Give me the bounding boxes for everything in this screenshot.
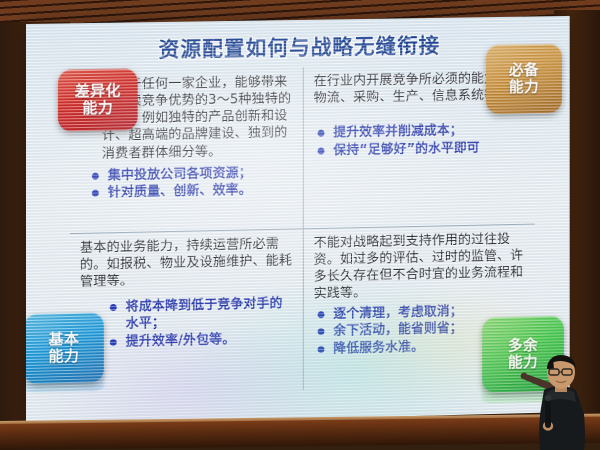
badge-basic-capability: 基本 能力	[26, 312, 104, 384]
bullet-item: 保持“足够好”的水平即可	[314, 139, 525, 160]
badge-must-have-capability: 必备 能力	[486, 44, 562, 114]
badge-differentiating-capability: 差异化 能力	[58, 68, 138, 131]
quadrant-basic: 基本的业务能力，持续运营所必需的。如报税、物业及设施维护、能耗管理等。 将成本降…	[70, 229, 304, 396]
presenter-person	[514, 352, 598, 450]
badge-line-2: 能力	[509, 79, 539, 96]
bullet-item: 将成本降到低于竞争对手的水平；	[106, 295, 293, 334]
conference-room: 资源配置如何与战略无缝衔接 有别于任何一家企业，能够带来可持续竞争优势的3～5种…	[0, 0, 600, 450]
badge-line-2: 能力	[48, 348, 79, 366]
presentation-slide: 资源配置如何与战略无缝衔接 有别于任何一家企业，能够带来可持续竞争优势的3～5种…	[26, 16, 570, 426]
bullet-item: 提升效率/外包等。	[106, 329, 293, 351]
quadrant-bullets-differentiating: 集中投放公司各项资源； 针对质量、创新、效率。	[88, 164, 293, 202]
badge-line-1: 差异化	[75, 83, 121, 101]
quadrant-body-redundant: 不能对战略起到支持作用的过往投资。如过多的评估、过时的监管、许多长久存在但不合时…	[314, 230, 525, 302]
quadrant-bullets-must-have: 提升效率并削减成本； 保持“足够好”的水平即可	[314, 121, 525, 159]
badge-line-2: 能力	[82, 100, 113, 117]
projection-screen: 资源配置如何与战略无缝衔接 有别于任何一家企业，能够带来可持续竞争优势的3～5种…	[26, 16, 570, 426]
capability-matrix: 有别于任何一家企业，能够带来可持续竞争优势的3～5种独特的能力。例如独特的产品创…	[70, 64, 535, 396]
quadrant-body-basic: 基本的业务能力，持续运营所必需的。如报税、物业及设施维护、能耗管理等。	[80, 235, 293, 291]
badge-line-1: 必备	[509, 62, 539, 79]
quadrant-bullets-basic: 将成本降到低于竞争对手的水平； 提升效率/外包等。	[106, 295, 293, 351]
bullet-item: 针对质量、创新、效率。	[88, 181, 293, 202]
